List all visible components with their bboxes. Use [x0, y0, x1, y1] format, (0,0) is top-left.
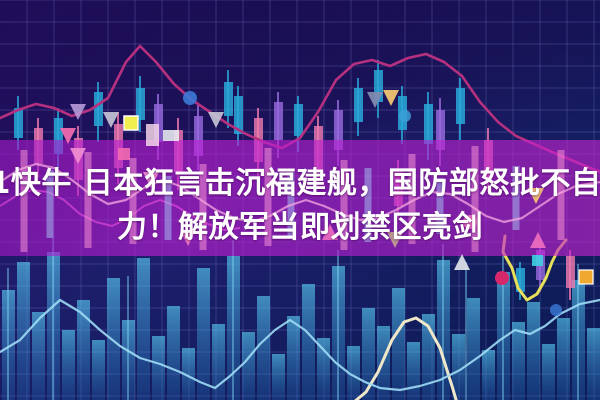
square-marker — [124, 116, 138, 130]
square-marker — [146, 124, 159, 146]
circle-marker — [550, 304, 562, 316]
square-marker — [532, 255, 543, 266]
circle-marker — [399, 110, 411, 122]
circle-marker — [183, 91, 197, 105]
square-marker — [163, 130, 179, 141]
promo-banner: 91快牛 日本狂言击沉福建舰，国防部怒批不自量 力！解放军当即划禁区亮剑 — [0, 0, 600, 400]
square-marker — [118, 148, 130, 160]
circle-marker — [495, 271, 509, 285]
financial-chart-background — [0, 0, 600, 400]
square-marker — [579, 270, 593, 284]
